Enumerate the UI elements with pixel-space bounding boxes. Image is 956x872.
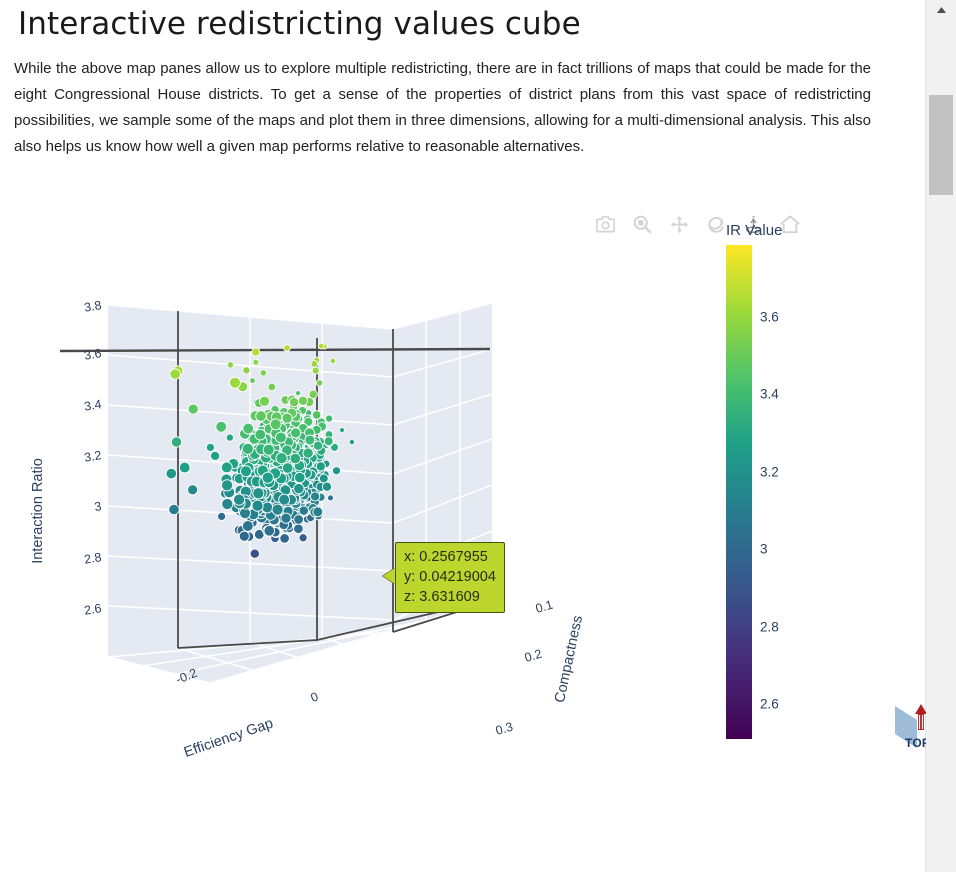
x-tick: 0 bbox=[309, 689, 321, 705]
scatter-point[interactable] bbox=[250, 378, 256, 384]
scatter-point[interactable] bbox=[216, 421, 227, 432]
scatter-point[interactable] bbox=[264, 525, 275, 536]
scatter-point[interactable] bbox=[222, 498, 233, 509]
colorbar-body: 3.6 3.4 3.2 3 2.8 2.6 bbox=[726, 245, 836, 739]
scatter-point[interactable] bbox=[313, 507, 323, 517]
scatter-point[interactable] bbox=[253, 359, 259, 365]
scatter-point[interactable] bbox=[280, 534, 290, 544]
colorbar-gradient bbox=[726, 245, 752, 739]
scatter-point[interactable] bbox=[330, 358, 336, 364]
scatter-point[interactable] bbox=[289, 398, 298, 407]
scatter-point[interactable] bbox=[250, 549, 259, 558]
scatter-point[interactable] bbox=[339, 427, 344, 432]
scatter-point[interactable] bbox=[206, 443, 214, 451]
scatter-point[interactable] bbox=[295, 391, 300, 396]
scatter-point[interactable] bbox=[305, 435, 315, 445]
scatter-point[interactable] bbox=[252, 348, 260, 356]
scatter-point[interactable] bbox=[260, 370, 267, 377]
scatter-point[interactable] bbox=[298, 396, 307, 405]
scatter-point[interactable] bbox=[282, 463, 293, 474]
scatter-point[interactable] bbox=[221, 462, 232, 473]
z-tick: 2.8 bbox=[83, 550, 102, 567]
colorbar-tick: 3.4 bbox=[760, 387, 779, 402]
scatter-point[interactable] bbox=[170, 369, 180, 379]
scatter-point[interactable] bbox=[290, 453, 301, 464]
scatter-point[interactable] bbox=[279, 494, 290, 505]
colorbar-title: IR Value bbox=[726, 222, 846, 239]
scatter3d-scene[interactable]: 3.8 3.6 3.4 3.2 3 2.8 2.6 -0.2 0 0.1 0.2… bbox=[60, 295, 620, 735]
colorbar-tick: 3 bbox=[760, 542, 768, 557]
z-tick: 3.8 bbox=[83, 298, 102, 315]
scrollbar-thumb[interactable] bbox=[929, 95, 953, 195]
scroll-to-top-label: TOP bbox=[905, 736, 926, 750]
scatter-point[interactable] bbox=[255, 429, 266, 440]
scatter-point[interactable] bbox=[222, 480, 233, 491]
scatter-point[interactable] bbox=[243, 423, 254, 434]
y-tick: 0.2 bbox=[523, 647, 544, 665]
scatter-point[interactable] bbox=[294, 483, 304, 493]
scatter-point[interactable] bbox=[312, 367, 319, 374]
scatter-point[interactable] bbox=[303, 448, 313, 458]
scatter-point[interactable] bbox=[242, 521, 253, 532]
page-title: Interactive redistricting values cube bbox=[0, 0, 926, 44]
scatter-point[interactable] bbox=[262, 502, 273, 513]
y-tick: 0.3 bbox=[494, 720, 515, 738]
plotly-figure[interactable]: z bbox=[0, 200, 926, 770]
scatter-point[interactable] bbox=[262, 472, 273, 483]
hover-tooltip: x: 0.2567955 y: 0.04219004 z: 3.631609 bbox=[395, 542, 505, 613]
scatter-point[interactable] bbox=[226, 434, 233, 441]
scatter-point[interactable] bbox=[275, 432, 286, 443]
scatter-point[interactable] bbox=[291, 428, 301, 438]
hover-x-value: x: 0.2567955 bbox=[404, 547, 496, 567]
chevron-up-icon bbox=[936, 6, 947, 14]
scatter-point[interactable] bbox=[276, 453, 287, 464]
scatter-point[interactable] bbox=[242, 443, 253, 454]
scatter-point[interactable] bbox=[188, 404, 198, 414]
scatter-point[interactable] bbox=[259, 396, 269, 406]
scatter-point[interactable] bbox=[171, 437, 181, 447]
colorbar-tick: 2.6 bbox=[760, 697, 779, 712]
scatter-point[interactable] bbox=[166, 468, 177, 479]
scatter-point[interactable] bbox=[234, 494, 245, 505]
scroll-to-top-button[interactable]: TOP bbox=[893, 698, 926, 750]
scatter-point[interactable] bbox=[294, 524, 304, 534]
x-axis-title: Efficiency Gap bbox=[182, 715, 275, 760]
colorbar-tick: 3.2 bbox=[760, 464, 779, 479]
z-axis-ticks: 3.8 3.6 3.4 3.2 3 2.8 2.6 bbox=[83, 298, 102, 618]
scatter-point[interactable] bbox=[294, 472, 305, 483]
scatter-point[interactable] bbox=[268, 383, 276, 391]
zoom-icon[interactable] bbox=[630, 212, 654, 236]
scatter-point[interactable] bbox=[319, 474, 328, 483]
scatter-point[interactable] bbox=[326, 415, 333, 422]
scatter-point[interactable] bbox=[299, 534, 307, 542]
scatter-point[interactable] bbox=[252, 500, 263, 511]
scatter-point[interactable] bbox=[241, 466, 252, 477]
hover-tooltip-arrow bbox=[383, 568, 395, 584]
scatter-point[interactable] bbox=[316, 380, 323, 387]
scatter-point[interactable] bbox=[281, 513, 291, 523]
orbital-rotate-icon[interactable] bbox=[704, 212, 728, 236]
page-content: Interactive redistricting values cube Wh… bbox=[0, 0, 926, 872]
z-tick: 3.4 bbox=[83, 397, 102, 414]
scatter-point[interactable] bbox=[239, 531, 249, 541]
colorbar: IR Value 3.6 3.4 3.2 3 2.8 2.6 bbox=[726, 222, 846, 739]
camera-icon[interactable] bbox=[593, 212, 617, 236]
scatter-point[interactable] bbox=[227, 362, 233, 368]
scatter-point[interactable] bbox=[332, 467, 340, 475]
vertical-scrollbar[interactable] bbox=[925, 0, 956, 872]
scatter-point[interactable] bbox=[311, 360, 318, 367]
scatter-point[interactable] bbox=[318, 343, 324, 349]
pan-icon[interactable] bbox=[667, 212, 691, 236]
intro-paragraph: While the above map panes allow us to ex… bbox=[0, 44, 893, 160]
y-axis-title: Compactness bbox=[552, 614, 586, 704]
hover-z-value: z: 3.631609 bbox=[404, 587, 496, 607]
scatter-point[interactable] bbox=[294, 515, 304, 525]
scatter-point[interactable] bbox=[211, 451, 220, 460]
y-tick: 0.1 bbox=[534, 598, 555, 616]
scatter-point[interactable] bbox=[324, 437, 333, 446]
scatter-point[interactable] bbox=[322, 482, 331, 491]
z-tick: 3.6 bbox=[83, 346, 102, 363]
scatter-point[interactable] bbox=[256, 411, 267, 422]
hover-y-value: y: 0.04219004 bbox=[404, 567, 496, 587]
z-axis-title: Interaction Ratio bbox=[30, 458, 46, 564]
scatter-point[interactable] bbox=[218, 512, 226, 520]
scatter-point[interactable] bbox=[270, 419, 281, 430]
colorbar-tick: 3.6 bbox=[760, 309, 779, 324]
scatter-point[interactable] bbox=[179, 462, 190, 473]
scrollbar-up-arrow[interactable] bbox=[926, 0, 956, 20]
scatter-point[interactable] bbox=[243, 367, 250, 374]
z-tick: 3 bbox=[93, 499, 102, 514]
z-tick: 2.6 bbox=[83, 601, 102, 618]
scatter-point[interactable] bbox=[272, 504, 283, 515]
scatter-point[interactable] bbox=[311, 492, 320, 501]
colorbar-tick: 2.8 bbox=[760, 619, 779, 634]
scatter-point[interactable] bbox=[188, 485, 198, 495]
scatter-point[interactable] bbox=[253, 488, 264, 499]
scatter-point[interactable] bbox=[299, 506, 308, 515]
y-axis-ticks: 0.1 0.2 0.3 bbox=[494, 598, 555, 738]
scatter-point[interactable] bbox=[169, 504, 180, 515]
z-tick: 3.2 bbox=[83, 448, 102, 465]
scatter-point[interactable] bbox=[328, 495, 334, 501]
scatter-point[interactable] bbox=[230, 377, 241, 388]
scatter-point[interactable] bbox=[312, 411, 321, 420]
scatter-point[interactable] bbox=[282, 413, 292, 423]
scatter-point[interactable] bbox=[284, 345, 291, 352]
scatter-point[interactable] bbox=[263, 444, 274, 455]
scatter-point[interactable] bbox=[349, 439, 354, 444]
